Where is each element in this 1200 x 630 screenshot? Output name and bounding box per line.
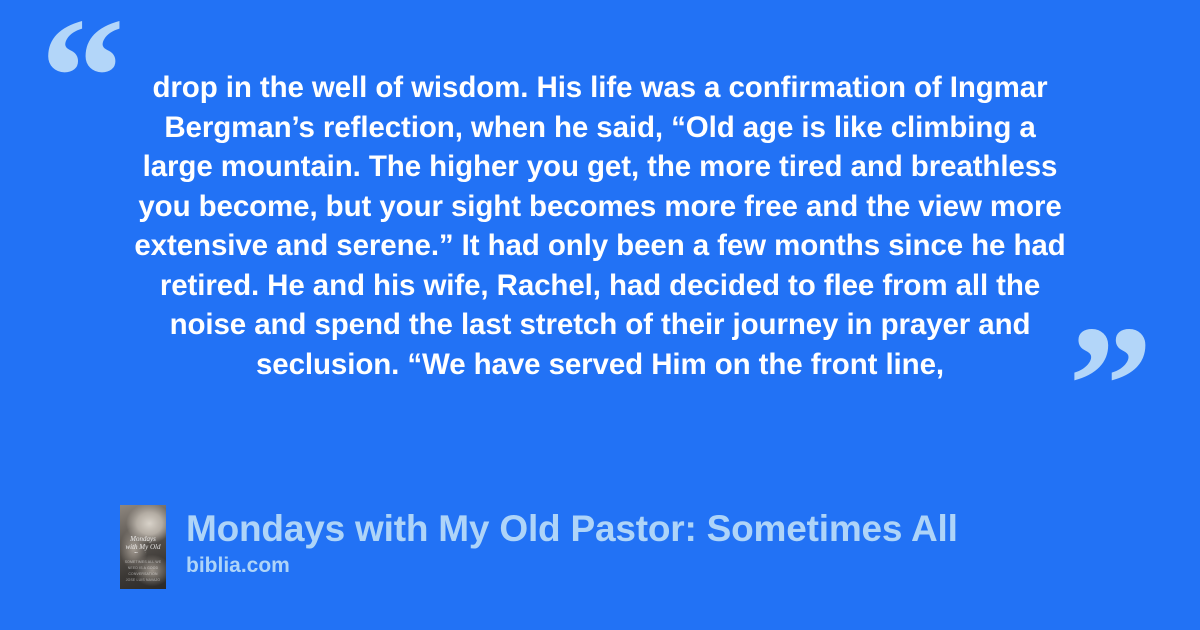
quote-line: noise and spend the last stretch of thei… [108,305,1092,345]
quote-text: drop in the well of wisdom. His life was… [108,68,1092,384]
quote-line: you become, but your sight becomes more … [108,187,1092,227]
quote-line: seclusion. “We have served Him on the fr… [108,345,1092,385]
source-title[interactable]: Mondays with My Old Pastor: Sometimes Al… [186,507,958,551]
book-cover-thumbnail: Mondays with My Old Pastor SOMETIMES ALL… [120,505,166,589]
quote-line: Bergman’s reflection, when he said, “Old… [108,108,1092,148]
quote-card: “ drop in the well of wisdom. His life w… [0,0,1200,630]
source-attribution: Mondays with My Old Pastor SOMETIMES ALL… [120,505,958,589]
quote-line: extensive and serene.” It had only been … [108,226,1092,266]
quote-line: retired. He and his wife, Rachel, had de… [108,266,1092,306]
source-text-block: Mondays with My Old Pastor: Sometimes Al… [186,505,958,579]
source-site[interactable]: biblia.com [186,553,958,579]
book-cover-subtitle: SOMETIMES ALL WE NEED IS A GOOD CONVERSA… [124,559,162,583]
book-cover-script-title: Mondays with My Old Pastor [125,535,161,553]
quote-line: large mountain. The higher you get, the … [108,147,1092,187]
quote-line: drop in the well of wisdom. His life was… [108,68,1092,108]
